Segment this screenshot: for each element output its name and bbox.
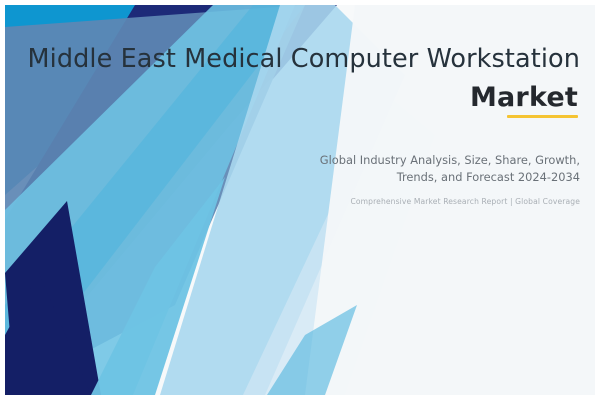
subtitle-line-2: Trends, and Forecast 2024-2034 xyxy=(397,170,580,184)
subtitle: Global Industry Analysis, Size, Share, G… xyxy=(260,152,580,185)
subtitle-line-1: Global Industry Analysis, Size, Share, G… xyxy=(320,153,580,167)
market-heading: Market xyxy=(470,84,578,112)
report-cover-banner: Middle East Medical Computer Workstation… xyxy=(0,0,600,400)
page-title: Middle East Medical Computer Workstation xyxy=(0,45,580,74)
market-heading-group: Market xyxy=(470,84,578,118)
cover-text-layer: Middle East Medical Computer Workstation… xyxy=(0,0,600,400)
accent-underline xyxy=(507,115,578,118)
report-caption: Comprehensive Market Research Report | G… xyxy=(260,197,580,208)
